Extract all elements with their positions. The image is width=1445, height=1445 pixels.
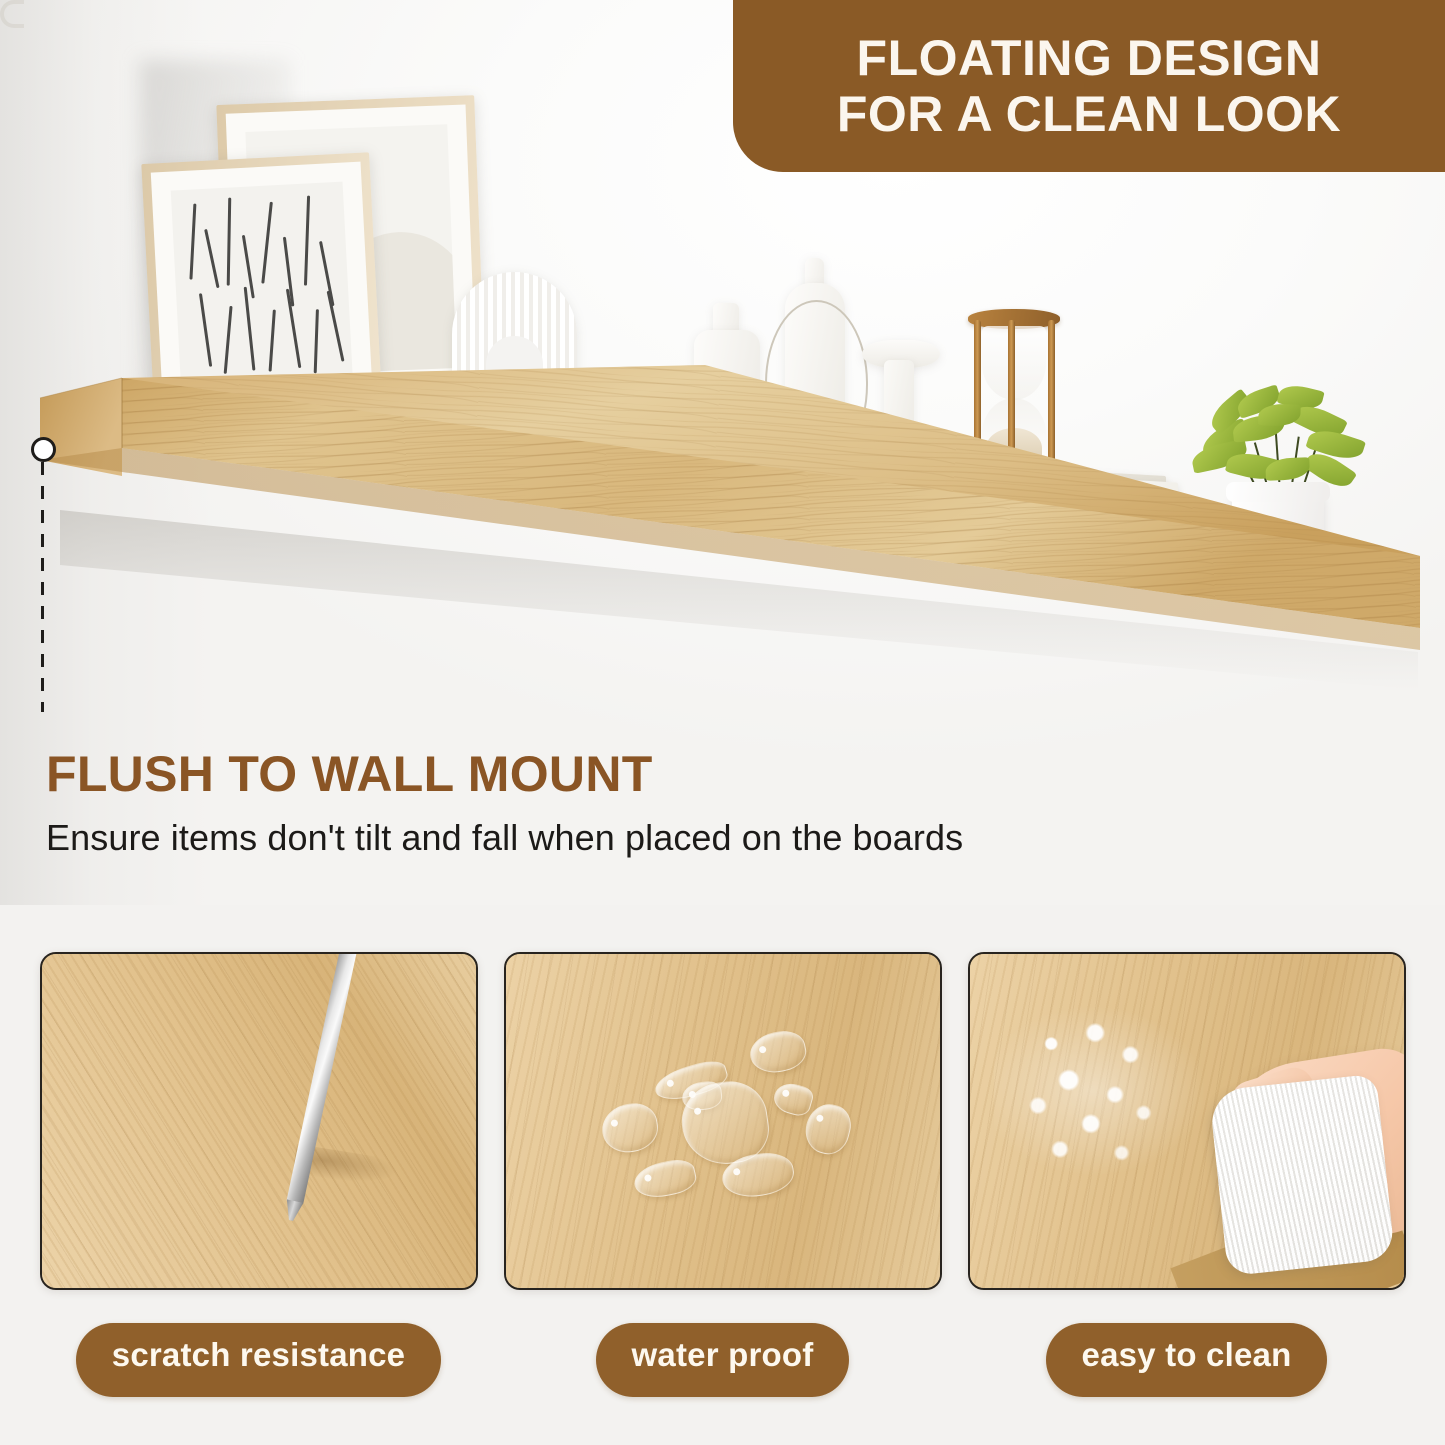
- feature-panel-scratch-resistance: [40, 952, 478, 1290]
- product-feature-image: HOM ARTGEN: [0, 0, 1445, 1445]
- feature-panel-easy-to-clean: [968, 952, 1406, 1290]
- flush-mount-callout-dot: [31, 437, 56, 462]
- white-powder-residue: [994, 1000, 1214, 1182]
- feature-panel-water-proof: [504, 952, 942, 1290]
- page-title: FLUSH TO WALL MOUNT: [46, 748, 963, 801]
- wood-texture: [42, 954, 476, 1288]
- status-badge-scratch-resistance: scratch resistance: [76, 1323, 441, 1397]
- feature-panels: [0, 952, 1445, 1297]
- page-subtitle: Ensure items don't tilt and fall when pl…: [46, 817, 963, 859]
- pill-cell-2: water proof: [504, 1323, 942, 1397]
- heading-block: FLUSH TO WALL MOUNT Ensure items don't t…: [46, 748, 963, 859]
- status-badge-easy-to-clean: easy to clean: [1046, 1323, 1328, 1397]
- feature-labels: scratch resistance water proof easy to c…: [0, 1323, 1445, 1397]
- pill-cell-1: scratch resistance: [40, 1323, 478, 1397]
- callout-dashed-line: [41, 462, 44, 712]
- banner-line-2: FOR A CLEAN LOOK: [837, 86, 1341, 142]
- floating-wood-shelf: [0, 360, 1445, 690]
- status-badge-water-proof: water proof: [596, 1323, 850, 1397]
- cleaning-cloth: [1208, 1074, 1395, 1277]
- floating-design-banner: FLOATING DESIGN FOR A CLEAN LOOK: [733, 0, 1445, 172]
- pill-cell-3: easy to clean: [968, 1323, 1406, 1397]
- banner-line-1: FLOATING DESIGN: [857, 30, 1322, 86]
